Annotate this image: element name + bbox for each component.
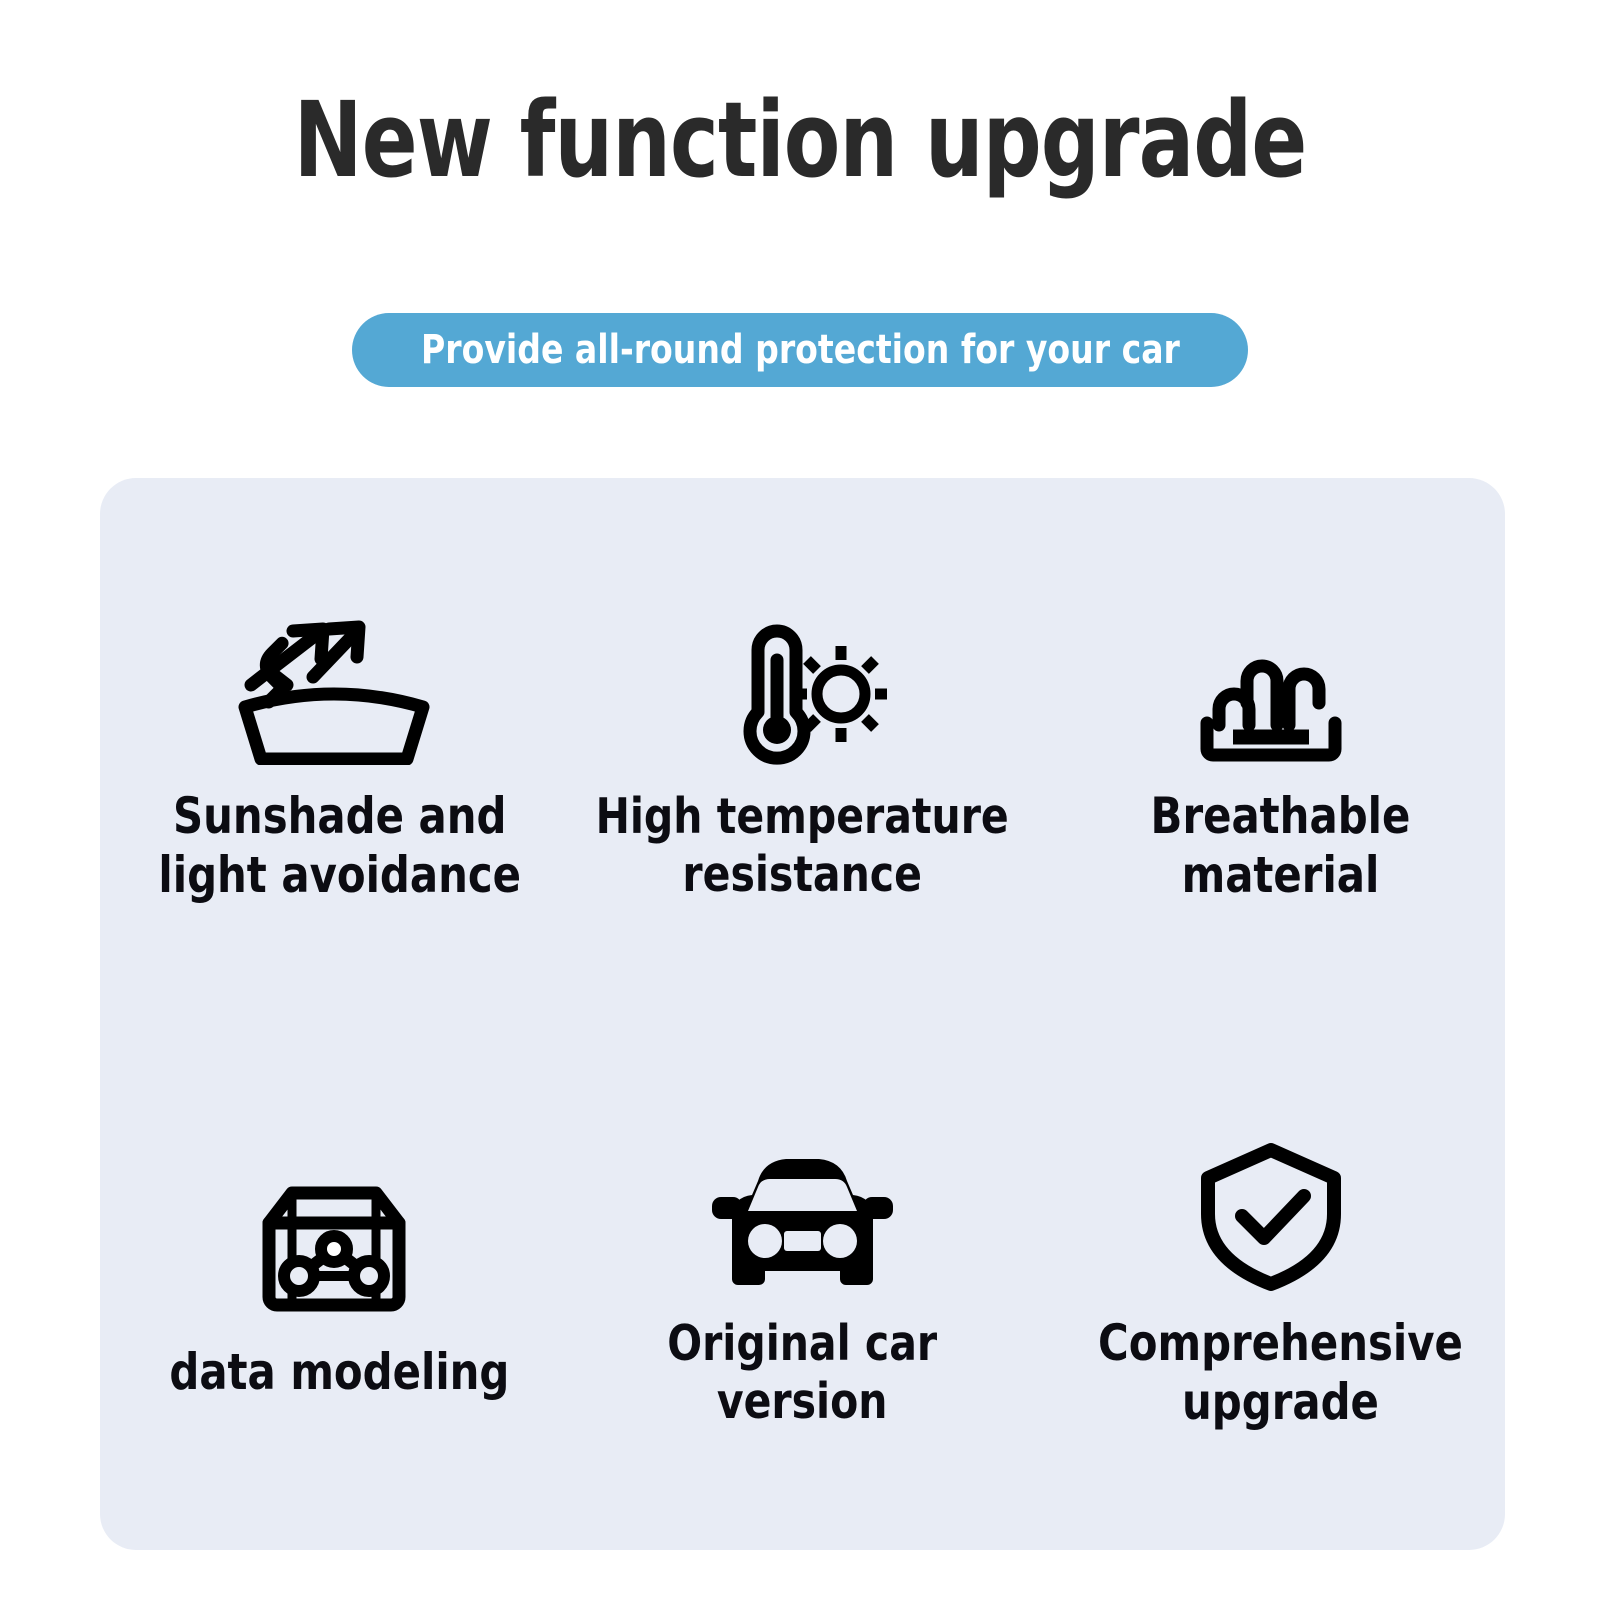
feature-label: High temperature resistance [585, 788, 1021, 904]
feature-item-comprehensive-upgrade[interactable]: Comprehensive upgrade [1037, 1142, 1505, 1432]
shield-check-icon [1196, 1142, 1346, 1292]
feature-row-bottom: data modeling [100, 1023, 1505, 1550]
subtitle-badge: Provide all-round protection for your ca… [352, 313, 1249, 387]
feature-label: Breathable material [1062, 787, 1498, 905]
feature-label: Sunshade and light avoidance [122, 787, 558, 905]
data-modeling-cube-icon [259, 1171, 409, 1321]
feature-item-breathable[interactable]: Breathable material [1037, 615, 1505, 905]
sunshade-windshield-icon [229, 615, 439, 765]
feature-item-data-modeling[interactable]: data modeling [100, 1171, 568, 1402]
subtitle-banner-wrap: Provide all-round protection for your ca… [0, 313, 1600, 387]
thermometer-sun-icon [717, 616, 887, 766]
feature-label: data modeling [170, 1343, 510, 1402]
feature-row-top: Sunshade and light avoidance [100, 478, 1505, 1023]
feature-item-sunshade[interactable]: Sunshade and light avoidance [100, 615, 568, 905]
feature-label: Comprehensive upgrade [1062, 1314, 1498, 1432]
feature-item-high-temperature[interactable]: High temperature resistance [568, 616, 1036, 904]
breathable-airflow-icon [1191, 615, 1351, 765]
car-front-icon [710, 1143, 895, 1293]
feature-label: Original car version [585, 1315, 1021, 1431]
feature-item-original-car[interactable]: Original car version [568, 1143, 1036, 1431]
page-title: New function upgrade [96, 86, 1504, 195]
feature-card: Sunshade and light avoidance [100, 478, 1505, 1550]
subtitle-text: Provide all-round protection for your ca… [421, 327, 1180, 373]
